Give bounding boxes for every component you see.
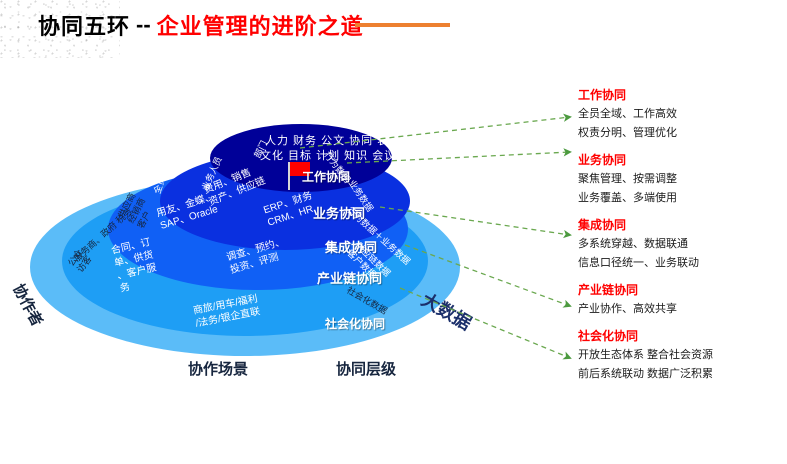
benefits-panel: 工作协同 全员全域、工作高效 权责分明、管理优化 业务协同 聚焦管理、按需调整 … bbox=[578, 86, 783, 392]
benefit-group-integration: 集成协同 多系统穿越、数据联通 信息口径统一、业务联动 bbox=[578, 216, 783, 273]
arrow-to-business bbox=[347, 152, 570, 163]
arrow-to-integration bbox=[380, 207, 570, 235]
benefit-group-social: 社会化协同 开放生态体系 整合社会资源 前后系统联动 数据广泛积累 bbox=[578, 327, 783, 384]
arrow-to-social bbox=[400, 288, 570, 358]
benefit-line: 多系统穿越、数据联通 bbox=[578, 235, 783, 254]
benefit-group-business: 业务协同 聚焦管理、按需调整 业务覆盖、多端使用 bbox=[578, 151, 783, 208]
benefit-line: 全员全域、工作高效 bbox=[578, 105, 783, 124]
benefit-heading: 产业链协同 bbox=[578, 281, 783, 300]
benefit-line: 开放生态体系 整合社会资源 bbox=[578, 346, 783, 365]
benefit-group-industry-chain: 产业链协同 产业协作、高效共享 bbox=[578, 281, 783, 319]
benefit-line: 信息口径统一、业务联动 bbox=[578, 254, 783, 273]
arrow-to-work bbox=[300, 117, 570, 148]
benefit-line: 权责分明、管理优化 bbox=[578, 124, 783, 143]
slide-canvas: 协同五环 -- 企业管理的进阶之道 人力 财务 公文 协同 表单 行政 文化 目… bbox=[0, 0, 787, 464]
benefit-line: 业务覆盖、多端使用 bbox=[578, 189, 783, 208]
benefit-heading: 工作协同 bbox=[578, 86, 783, 105]
benefit-heading: 集成协同 bbox=[578, 216, 783, 235]
arrow-to-industry-chain bbox=[405, 245, 570, 306]
benefit-line: 聚焦管理、按需调整 bbox=[578, 170, 783, 189]
benefit-heading: 社会化协同 bbox=[578, 327, 783, 346]
benefit-line: 产业协作、高效共享 bbox=[578, 300, 783, 319]
benefit-heading: 业务协同 bbox=[578, 151, 783, 170]
benefit-line: 前后系统联动 数据广泛积累 bbox=[578, 365, 783, 384]
benefit-group-work: 工作协同 全员全域、工作高效 权责分明、管理优化 bbox=[578, 86, 783, 143]
